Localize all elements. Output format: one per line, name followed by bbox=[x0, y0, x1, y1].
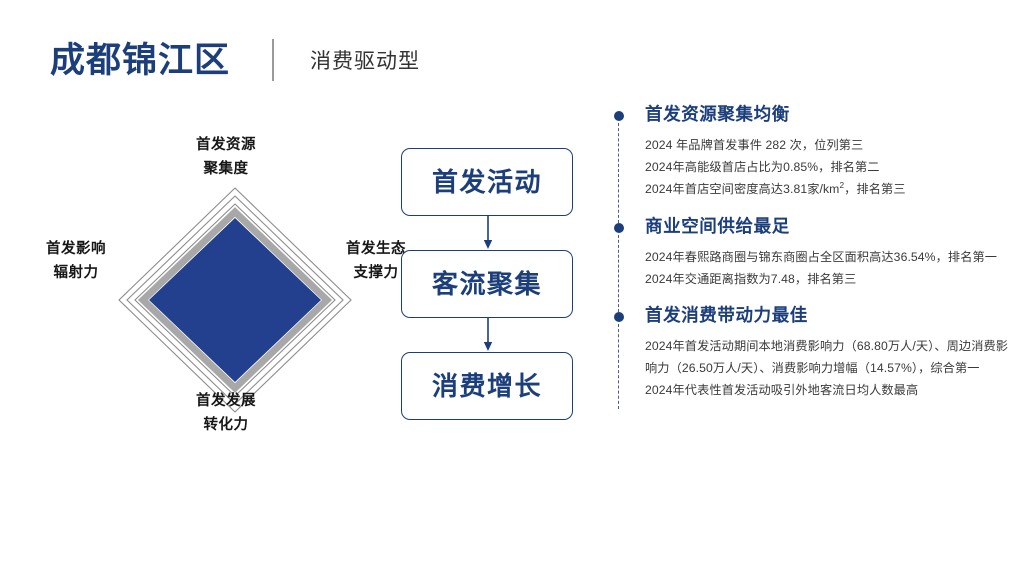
diamond-radar-chart: 首发资源 聚集度 首发生态 支撑力 首发发展 转化力 首发影响 辐射力 bbox=[50, 130, 390, 440]
axis-label-right: 首发生态 支撑力 bbox=[346, 238, 406, 286]
bullet-dot-icon bbox=[614, 111, 624, 121]
axis-label-top-line1: 首发资源 bbox=[62, 134, 390, 158]
axis-label-bottom-line1: 首发发展 bbox=[62, 390, 390, 414]
insight-heading: 首发消费带动力最佳 bbox=[645, 305, 1012, 327]
insight-detail-line: 2024年交通距离指数为7.48，排名第三 bbox=[645, 269, 1012, 291]
flow-step-1-label: 首发活动 bbox=[432, 169, 542, 195]
flow-step-3-label: 消费增长 bbox=[432, 373, 542, 399]
bullet-connector-line bbox=[618, 235, 619, 312]
insight-heading: 首发资源聚集均衡 bbox=[645, 104, 1012, 126]
axis-label-top-line2: 聚集度 bbox=[62, 158, 390, 182]
insight-heading: 商业空间供给最足 bbox=[645, 216, 1012, 238]
diamond-core-fill bbox=[149, 218, 321, 382]
flow-step-1[interactable]: 首发活动 bbox=[401, 148, 573, 216]
insight-detail-line: 2024年春熙路商圈与锦东商圈占全区面积高达36.54%，排名第一 bbox=[645, 247, 1012, 269]
flow-chart: 首发活动 客流聚集 消费增长 bbox=[401, 148, 575, 420]
flow-step-3[interactable]: 消费增长 bbox=[401, 352, 573, 420]
flow-arrow-1 bbox=[401, 216, 575, 250]
insight-detail-lines: 2024年春熙路商圈与锦东商圈占全区面积高达36.54%，排名第一 2024年交… bbox=[645, 247, 1012, 290]
axis-label-right-line1: 首发生态 bbox=[346, 238, 406, 262]
insight-item: 商业空间供给最足 2024年春熙路商圈与锦东商圈占全区面积高达36.54%，排名… bbox=[612, 216, 1012, 290]
insight-item: 首发消费带动力最佳 2024年首发活动期间本地消费影响力（68.80万人/天）、… bbox=[612, 305, 1012, 401]
bullet-connector-line bbox=[618, 123, 619, 223]
arrow-down-icon bbox=[482, 318, 494, 352]
insight-detail-line: 2024年首发活动期间本地消费影响力（68.80万人/天）、周边消费影响力（26… bbox=[645, 336, 1012, 379]
insight-detail-line: 2024年高能级首店占比为0.85%，排名第二 bbox=[645, 157, 1012, 179]
axis-label-bottom-line2: 转化力 bbox=[62, 414, 390, 438]
bullet-connector-line bbox=[618, 324, 619, 409]
axis-label-top: 首发资源 聚集度 bbox=[62, 134, 390, 182]
flow-step-2-label: 客流聚集 bbox=[432, 271, 542, 297]
bullet-dot-icon bbox=[614, 312, 624, 322]
title-separator bbox=[272, 39, 274, 81]
insight-detail-lines: 2024年首发活动期间本地消费影响力（68.80万人/天）、周边消费影响力（26… bbox=[645, 336, 1012, 401]
page-subtitle: 消费驱动型 bbox=[310, 45, 420, 75]
insight-detail-line: 2024年首店空间密度高达3.81家/km2，排名第三 bbox=[645, 178, 1012, 201]
insight-detail-line: 2024年代表性首发活动吸引外地客流日均人数最高 bbox=[645, 380, 1012, 402]
insight-item: 首发资源聚集均衡 2024 年品牌首发事件 282 次，位列第三 2024年高能… bbox=[612, 104, 1012, 201]
axis-label-bottom: 首发发展 转化力 bbox=[62, 390, 390, 438]
arrow-down-icon bbox=[482, 216, 494, 250]
flow-arrow-2 bbox=[401, 318, 575, 352]
page-title: 成都锦江区 bbox=[50, 43, 230, 78]
insight-detail-lines: 2024 年品牌首发事件 282 次，位列第三 2024年高能级首店占比为0.8… bbox=[645, 135, 1012, 201]
insights-list: 首发资源聚集均衡 2024 年品牌首发事件 282 次，位列第三 2024年高能… bbox=[612, 104, 1012, 401]
flow-step-2[interactable]: 客流聚集 bbox=[401, 250, 573, 318]
bullet-dot-icon bbox=[614, 223, 624, 233]
insight-detail-line: 2024 年品牌首发事件 282 次，位列第三 bbox=[645, 135, 1012, 157]
axis-label-left-line2: 辐射力 bbox=[46, 262, 106, 286]
axis-label-left: 首发影响 辐射力 bbox=[46, 238, 106, 286]
axis-label-left-line1: 首发影响 bbox=[46, 238, 106, 262]
axis-label-right-line2: 支撑力 bbox=[346, 262, 406, 286]
page-header: 成都锦江区 消费驱动型 bbox=[50, 36, 420, 84]
